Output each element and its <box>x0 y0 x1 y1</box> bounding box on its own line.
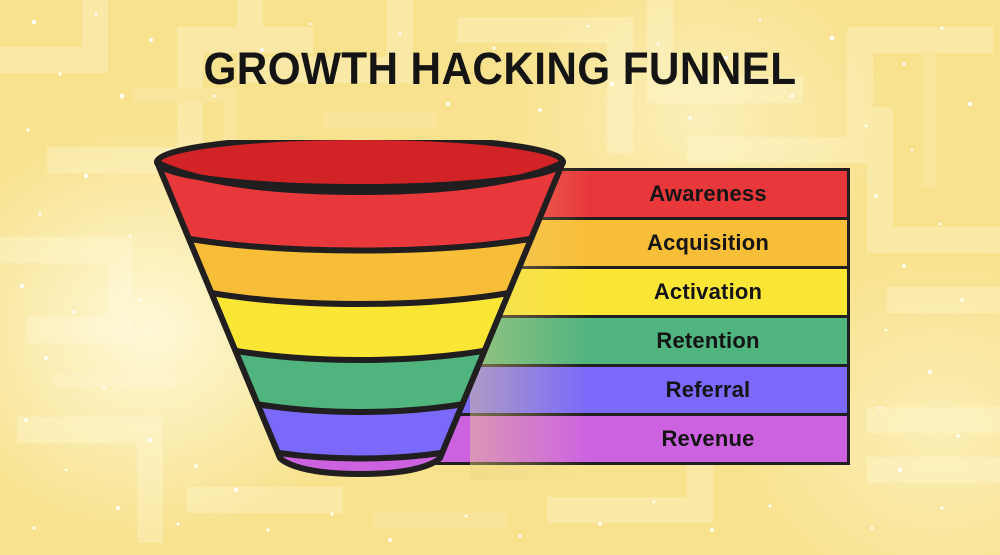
legend-label-revenue: Revenue <box>569 426 847 452</box>
legend-label-activation: Activation <box>569 279 847 305</box>
infographic-canvas: GROWTH HACKING FUNNEL Awareness Acquisit… <box>0 0 1000 555</box>
legend-label-acquisition: Acquisition <box>569 230 847 256</box>
funnel-chart <box>140 140 580 500</box>
legend-label-awareness: Awareness <box>569 181 847 207</box>
legend-label-retention: Retention <box>569 328 847 354</box>
legend-label-referral: Referral <box>569 377 847 403</box>
page-title: GROWTH HACKING FUNNEL <box>30 44 970 94</box>
